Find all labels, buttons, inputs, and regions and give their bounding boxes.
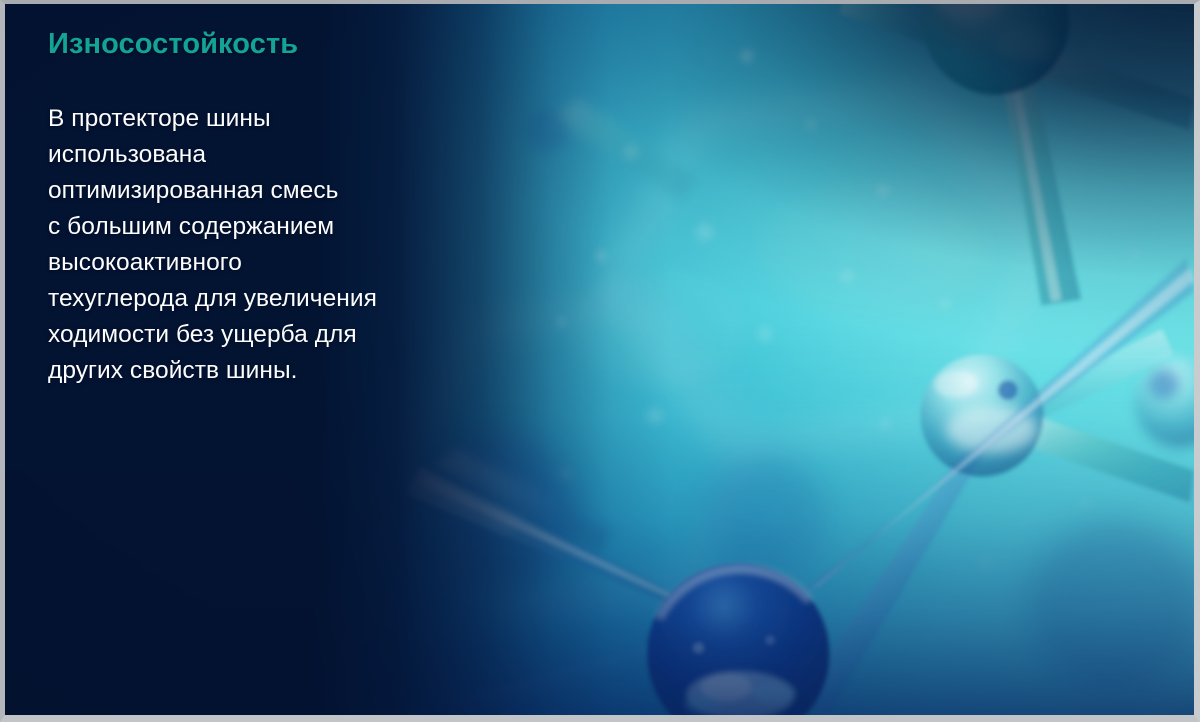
- body-line: В протекторе шины: [48, 101, 478, 137]
- body-line: других свойств шины.: [48, 353, 478, 389]
- molecule-sphere-left-blur: [421, 435, 576, 589]
- body-line: оптимизированная смесь: [48, 173, 478, 209]
- molecule-sphere-bottom-center: [405, 258, 1194, 715]
- slide-title: Износостойкость: [48, 28, 478, 61]
- body-line: ходимости без ущерба для: [48, 317, 478, 353]
- body-line: использована: [48, 137, 478, 173]
- molecule-bond-rods-left: [399, 449, 613, 551]
- molecule-bond-rod-upper-left: [526, 99, 698, 201]
- slide-body-text: В протекторе шины использована оптимизир…: [48, 61, 478, 389]
- slide-text-block: Износостойкость В протекторе шины исполь…: [48, 28, 478, 389]
- body-line: высокоактивного: [48, 245, 478, 281]
- slide: Износостойкость В протекторе шины исполь…: [0, 0, 1200, 722]
- body-line: с большим содержанием: [48, 209, 478, 245]
- molecule-sphere-right: [794, 329, 1194, 713]
- body-line: техуглерода для увеличения: [48, 281, 478, 317]
- molecule-sphere-top-right: [839, 4, 1194, 305]
- background-hexagon-lattice: [401, 93, 1045, 605]
- photo-bloom: [570, 122, 1194, 388]
- molecule-sphere-mid-blur: [703, 455, 1194, 691]
